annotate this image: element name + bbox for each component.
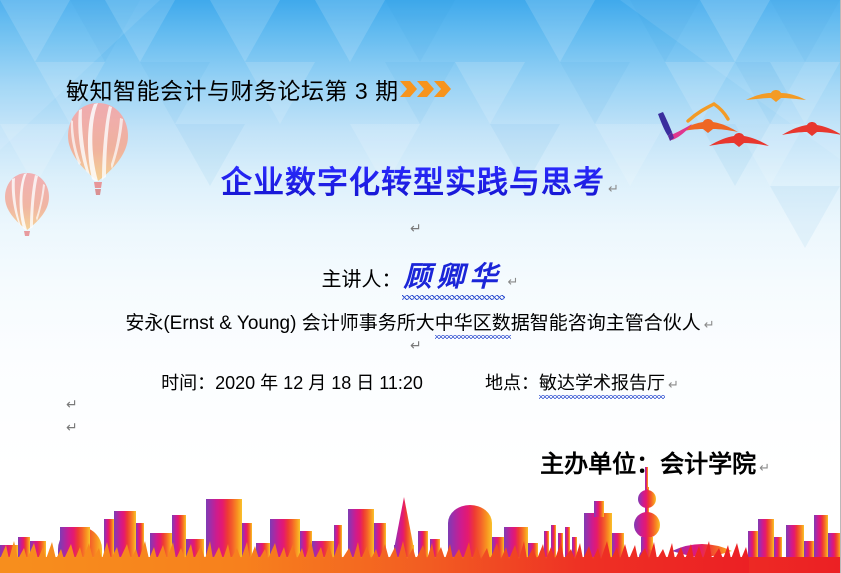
poster-canvas: 敏知智能会计与财务论坛第 3 期 企业数字化转型实践与思考↵ ↵ 主讲人：顾卿华… <box>0 0 841 573</box>
speaker-line: 主讲人：顾卿华↵ <box>0 255 840 295</box>
return-mark: ↵ <box>668 378 679 393</box>
return-mark: ↵ <box>66 421 78 435</box>
return-mark: ↵ <box>66 398 78 412</box>
forum-series-label: 敏知智能会计与财务论坛第 3 期 <box>66 78 399 104</box>
triple-chevron-right-icon <box>400 78 452 105</box>
speaker-affiliation: 安永(Ernst & Young) 会计师事务所大中华区数据智能咨询主管合伙人↵ <box>0 308 840 335</box>
speaker-label: 主讲人： <box>322 269 402 291</box>
schedule-line: 时间：2020 年 12 月 18 日 11:20地点：敏达学术报告厅↵ <box>0 369 840 395</box>
page-title-text: 企业数字化转型实践与思考 <box>221 165 605 200</box>
affiliation-part-2-marked: 中华区数 <box>435 308 511 335</box>
time-value: 2020 年 12 月 18 日 11:20 <box>215 373 423 393</box>
organizer-line: 主办单位：会计学院↵ <box>540 444 770 479</box>
affiliation-part-3: 据智能咨询主管合伙人 <box>511 313 701 334</box>
place-label: 地点： <box>485 373 539 393</box>
place-value: 敏达学术报告厅 <box>539 369 665 395</box>
affiliation-part-1: 安永(Ernst & Young) 会计师事务所大 <box>125 313 434 334</box>
return-mark: ↵ <box>608 182 619 197</box>
return-mark: ↵ <box>410 339 422 353</box>
speaker-name: 顾卿华 <box>402 255 505 295</box>
forum-series-header: 敏知智能会计与财务论坛第 3 期 <box>66 72 452 106</box>
time-label: 时间： <box>161 373 215 393</box>
return-mark: ↵ <box>508 275 519 290</box>
return-mark: ↵ <box>410 222 422 236</box>
return-mark: ↵ <box>759 461 770 476</box>
return-mark: ↵ <box>704 318 715 333</box>
organizer-text: 主办单位：会计学院 <box>540 451 756 478</box>
page-title: 企业数字化转型实践与思考↵ <box>0 157 840 202</box>
